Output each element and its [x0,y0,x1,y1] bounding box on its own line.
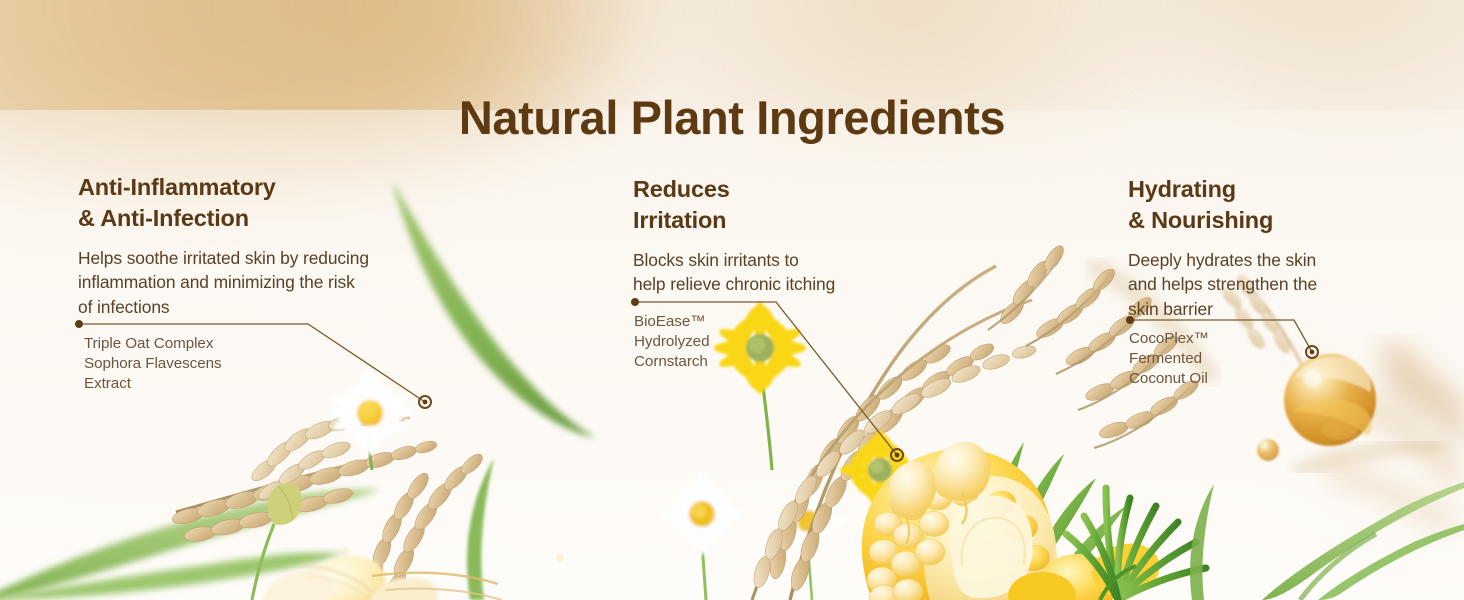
corn-pieces-right [1008,537,1165,600]
feature-body-2: Blocks skin irritants to help relieve ch… [633,248,923,297]
feature-heading-2: Reduces Irritation [633,174,923,236]
oat-stem-bottom-left [372,573,502,600]
feature-column-2: Reduces Irritation Blocks skin irritants… [633,174,923,297]
background-wash-bottom-left [0,420,400,600]
daisy-flower-bottom-left-2 [772,485,844,600]
oil-droplet-small [1257,439,1279,461]
green-stalk-bottom-left [0,489,380,600]
palm-frond-right [1066,488,1206,600]
oat-husk-bottom-left [254,546,441,600]
green-blade-center-right [1190,484,1214,600]
feature-body-1: Helps soothe irritated skin by reducing … [78,246,478,320]
ingredient-label-1: Triple Oat Complex Sophora Flavescens Ex… [84,334,344,395]
leader-dot-2 [631,298,639,306]
green-blades-far-right [1262,482,1464,600]
ingredient-banner: Natural Plant Ingredients Anti-Inflammat… [0,0,1464,600]
feature-heading-1: Anti-Inflammatory & Anti-Infection [78,172,478,234]
green-blade-mid-left [467,458,494,600]
ingredient-label-3: CocoPlex™ Fermented Coconut Oil [1129,329,1359,390]
page-title: Natural Plant Ingredients [0,90,1464,145]
leader-ring-2 [891,449,903,461]
corn-leaves [958,442,1126,572]
yellow-daisy-flower-lower [840,430,920,540]
water-droplets [339,546,564,562]
feature-column-1: Anti-Inflammatory & Anti-Infection Helps… [78,172,478,320]
ingredient-label-2: BioEase™ Hydrolyzed Cornstarch [634,312,874,373]
rice-stalk-left-upper [171,439,438,544]
daisy-flower-bottom-left [661,473,743,600]
rice-stalk-left-vertical [362,451,486,600]
feature-body-3: Deeply hydrates the skin and helps stren… [1128,248,1398,322]
blurred-grass-right-mid [1300,444,1440,470]
feature-column-3: Hydrating & Nourishing Deeply hydrates t… [1128,174,1398,322]
green-stalk-left-lower [0,553,344,600]
flower-bud-left [252,483,302,600]
rice-stalk-left-arch [248,411,410,503]
leader-ring-1 [419,396,431,408]
feature-heading-3: Hydrating & Nourishing [1128,174,1398,236]
background-wash-right-lower [1340,430,1464,600]
corn-kernels-floating [889,442,990,544]
corn-cob [862,449,1057,600]
leader-dot-1 [75,320,83,328]
